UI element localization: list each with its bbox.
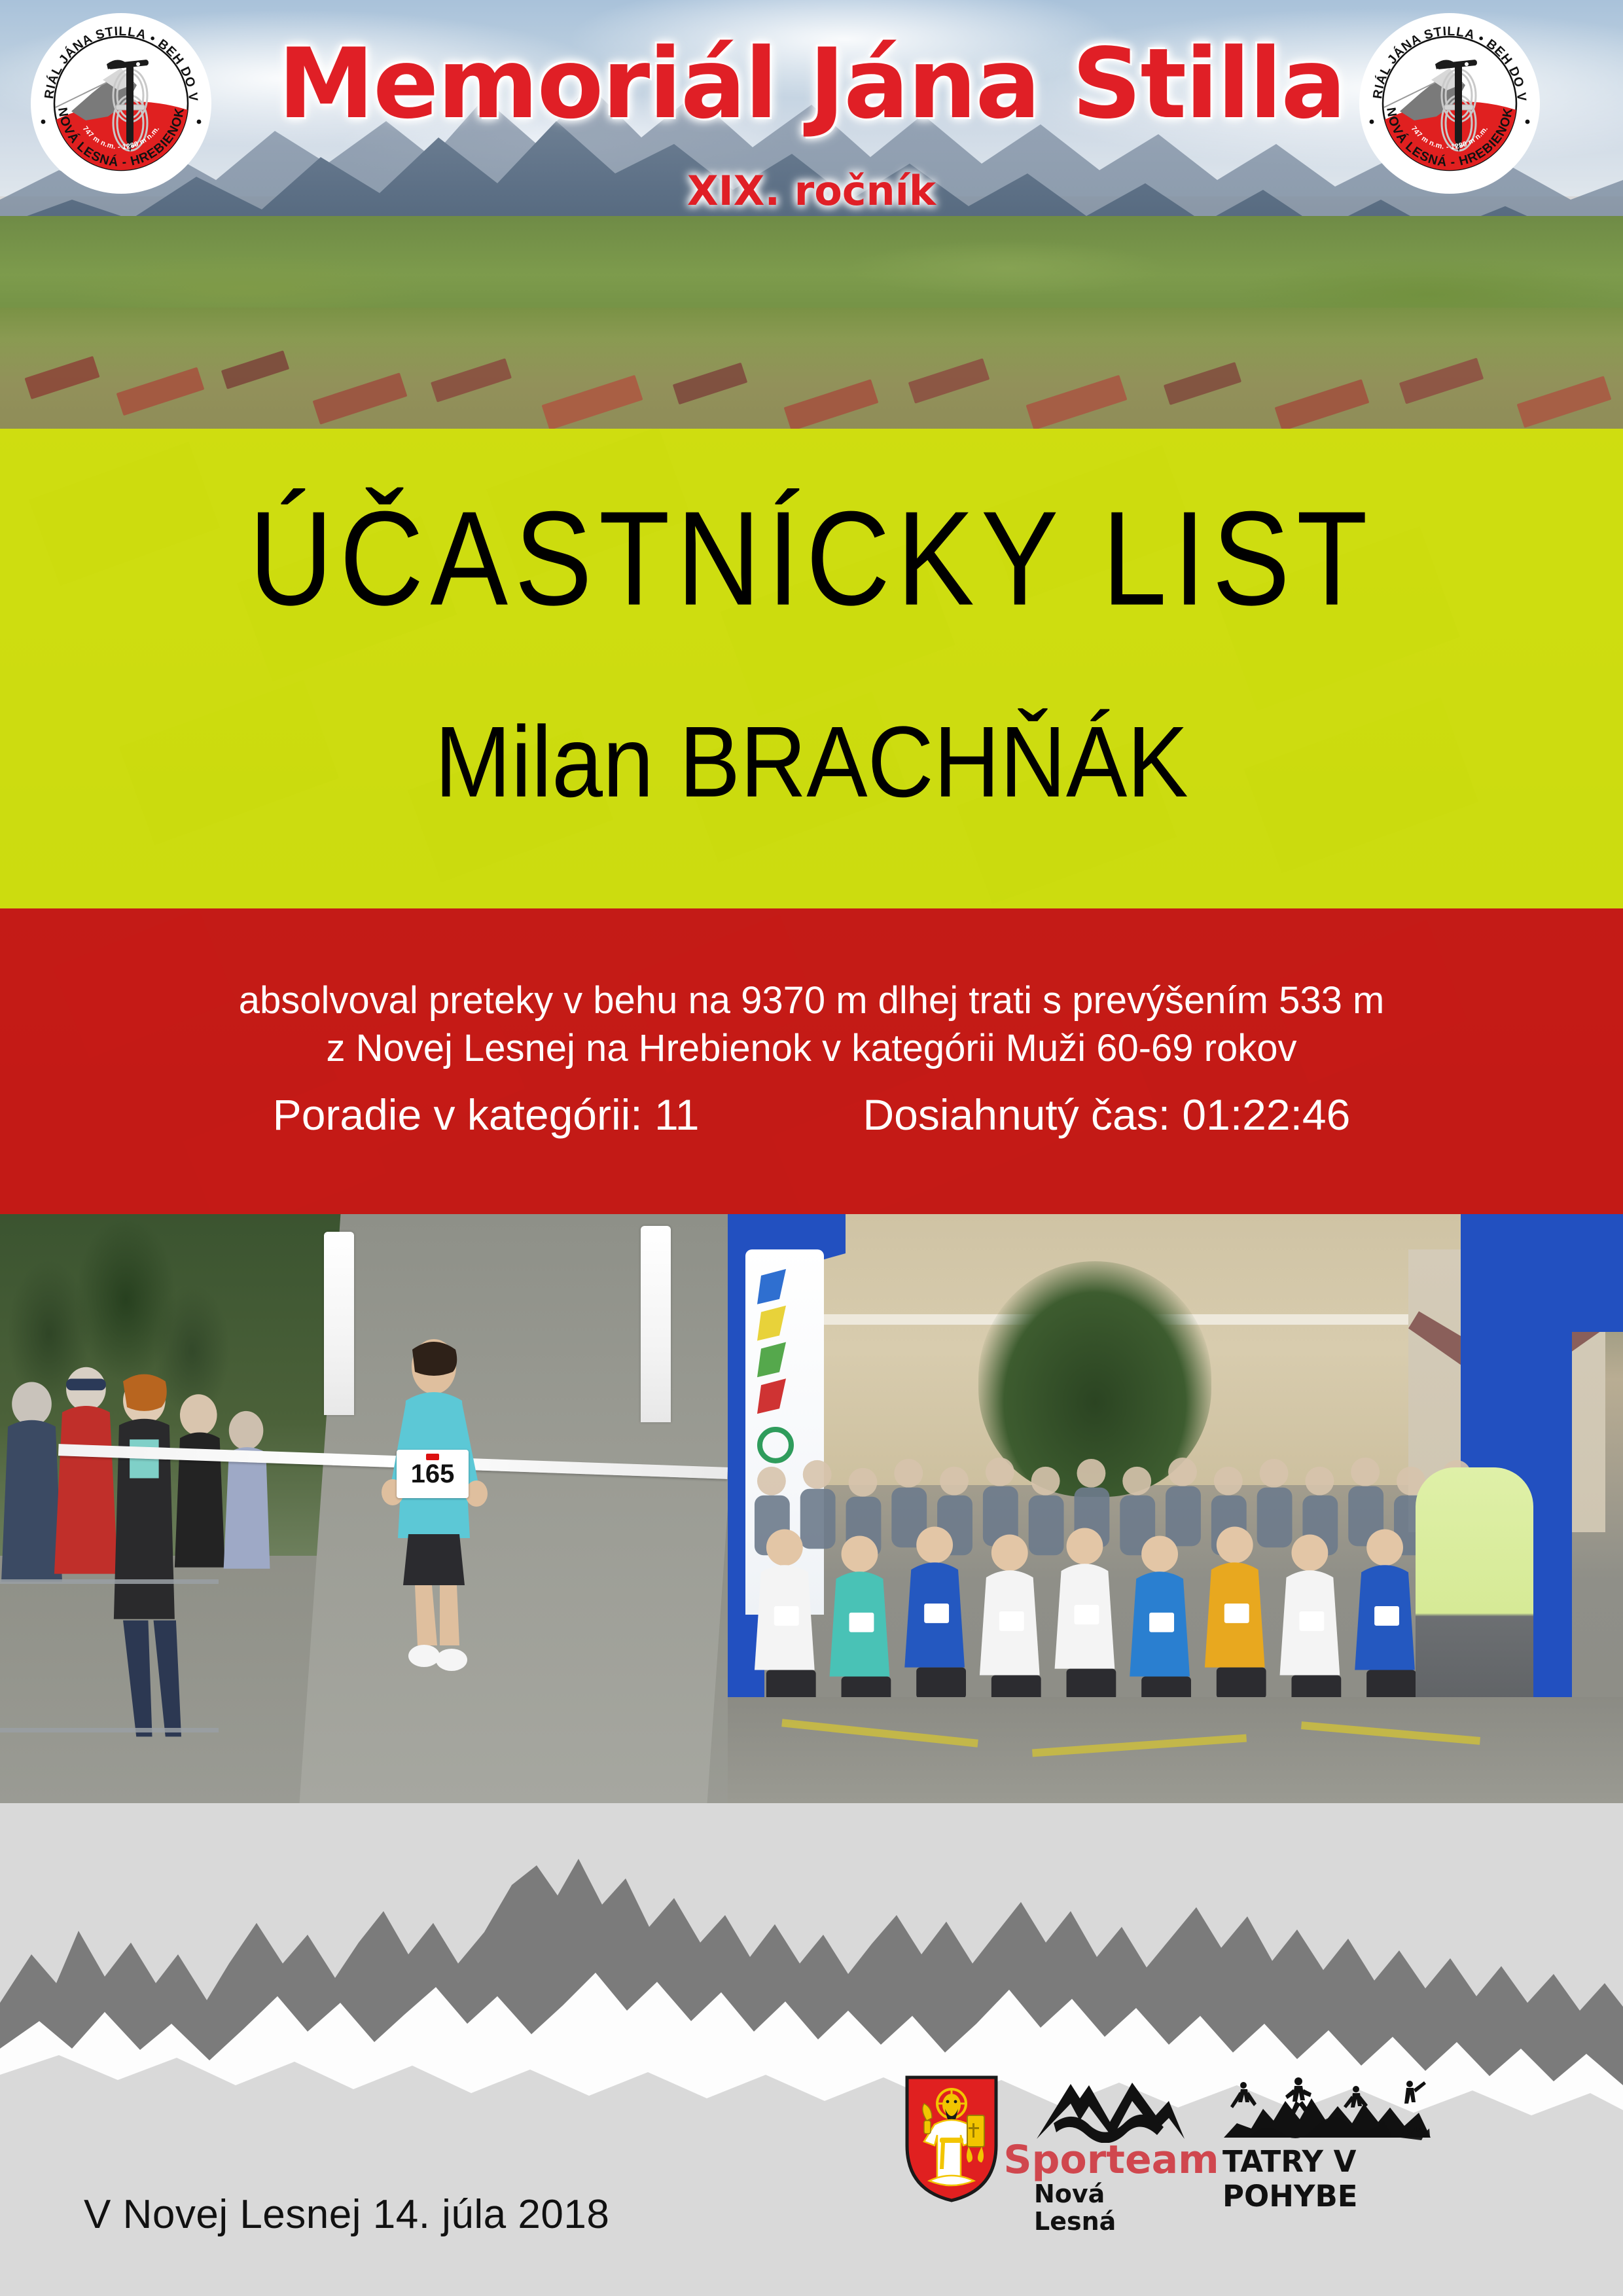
tatry-v-pohybe-label: TATRY V POHYBE	[1222, 2144, 1432, 2214]
athlete-name: Milan BRACHŇÁK	[0, 704, 1623, 820]
road-surface-right	[728, 1697, 1623, 1803]
sponsor-feather-flag-2	[641, 1226, 671, 1422]
bib-number-text: 165	[411, 1460, 455, 1489]
participant-certificate-poster: 165	[0, 0, 1623, 2296]
bib-pin-marker	[426, 1454, 439, 1460]
footer-date-place: V Novej Lesnej 14. júla 2018	[84, 2191, 609, 2238]
sponsor-feather-flag	[324, 1232, 354, 1415]
runner-bib-number: 165	[397, 1450, 469, 1498]
footer-logo-row: Sporteam Nová Lesná	[903, 2075, 1432, 2236]
tatry-v-pohybe-logo: TATRY V POHYBE	[1222, 2075, 1432, 2214]
nova-lesna-coat-of-arms	[903, 2075, 1000, 2203]
race-photo-row: 165	[0, 1214, 1623, 1803]
sporteam-sublabel: Nová Lesná	[1034, 2181, 1188, 2236]
result-line-2: z Novej Lesnej na Hrebienok v kategórii …	[0, 1026, 1623, 1070]
result-stats-row: Poradie v kategórii: 11 Dosiahnutý čas: …	[0, 1090, 1623, 1139]
memorial-badge-left: MEMORIÁL JÁNA STILLA • BEH DO VRCHU NOVÁ…	[29, 12, 213, 195]
document-title: ÚČASTNÍCKY LIST	[0, 481, 1623, 636]
finish-time: Dosiahnutý čas: 01:22:46	[863, 1090, 1351, 1139]
race-start-photo	[728, 1214, 1623, 1803]
sporteam-logo: Sporteam Nová Lesná	[1034, 2075, 1188, 2236]
tatry-mountain-figures-icon	[1222, 2075, 1432, 2148]
finish-line-photo: 165	[0, 1214, 728, 1803]
memorial-badge-right: MEMORIÁL JÁNA STILLA • BEH DO VRCHU NOVÁ…	[1358, 12, 1541, 195]
crowd-barrier	[0, 1579, 219, 1732]
runner-figure	[378, 1338, 490, 1678]
sporteam-mountain-icon	[1034, 2075, 1188, 2143]
village-rooftops	[0, 308, 1623, 432]
result-line-1: absolvoval preteky v behu na 9370 m dlhe…	[0, 978, 1623, 1022]
sporteam-label: Sporteam	[1003, 2140, 1219, 2179]
category-rank: Poradie v kategórii: 11	[273, 1090, 700, 1139]
